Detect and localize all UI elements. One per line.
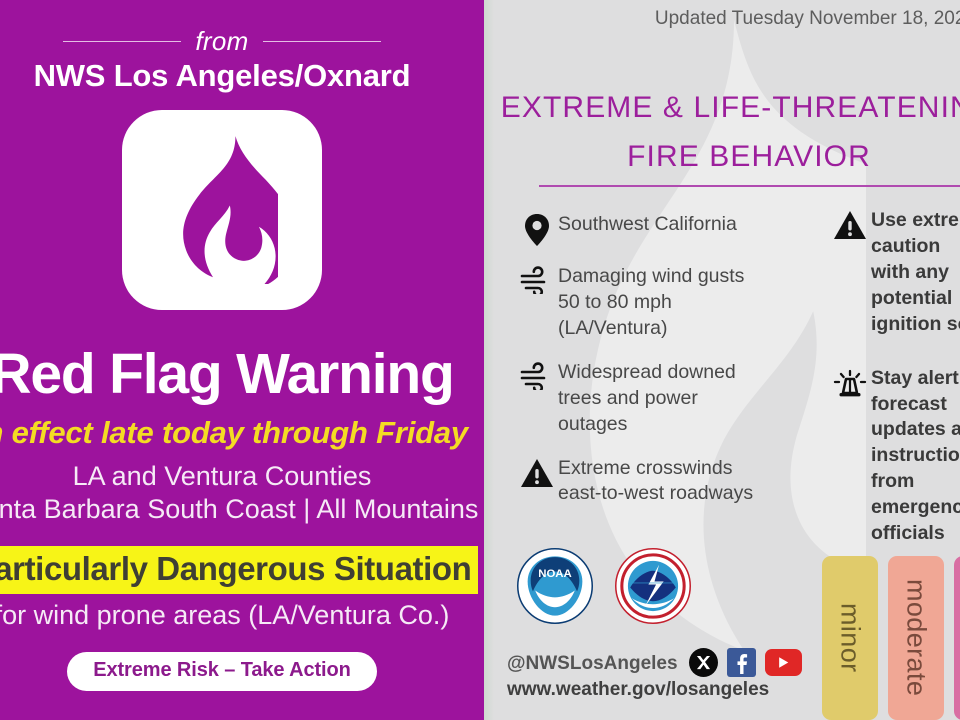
office-name: NWS Los Angeles/Oxnard [0,58,484,94]
hazard-bullet-list-right: Use extreme caution with any potential i… [829,208,960,575]
flame-badge [122,110,322,310]
from-label: from [195,28,248,54]
extreme-risk-take-action-pill[interactable]: Extreme Risk – Take Action [67,652,377,691]
list-item: Damaging wind gusts 50 to 80 mph (LA/Ven… [516,264,806,342]
list-item-label: Stay alert for forecast updates and inst… [871,366,960,547]
warning-graphic: from NWS Los Angeles/Oxnard Red Flag War… [0,0,960,720]
right-info-panel: Updated Tuesday November 18, 2025 EXTREM… [484,0,960,720]
pds-banner-wrap: Particularly Dangerous Situation [0,546,484,594]
facebook-icon[interactable] [727,648,756,677]
list-item: Widespread downed trees and power outage… [516,360,806,438]
severity-box-major: major [954,556,960,720]
action-pill-wrap: Extreme Risk – Take Action [0,652,484,691]
youtube-icon[interactable] [765,649,802,676]
wind-icon [516,360,558,390]
left-purple-panel: from NWS Los Angeles/Oxnard Red Flag War… [0,0,484,720]
website-url[interactable]: www.weather.gov/losangeles [507,679,769,701]
warning-triangle-icon [516,456,558,488]
subheadline: in effect late today through Friday [0,415,484,451]
list-item: Southwest California [516,212,806,246]
list-item-label: Extreme crosswinds east-to-west roadways [558,456,753,508]
from-divider-row: from [0,24,484,58]
x-icon[interactable] [689,648,718,677]
wind-prone-areas-text: for wind prone areas (LA/Ventura Co.) [0,600,484,631]
nws-logo [615,548,691,624]
page-title: EXTREME & LIFE-THREATENING FIRE BEHAVIOR [484,84,960,181]
pds-banner: Particularly Dangerous Situation [0,546,478,594]
location-line-1: LA and Ventura Counties [0,461,484,492]
social-handle[interactable]: @NWSLosAngeles [507,653,678,675]
list-item-label: Use extreme caution with any potential i… [871,208,960,338]
warning-triangle-icon [829,208,871,240]
flame-icon [166,136,278,284]
severity-label: moderate [901,579,932,696]
severity-label: minor [835,603,866,673]
page-title-line-1: EXTREME & LIFE-THREATENING [501,91,960,124]
list-item: Extreme crosswinds east-to-west roadways [516,456,806,508]
severity-box-moderate: moderate [888,556,944,720]
severity-scale: minor moderate major [822,556,960,720]
noaa-logo: NOAA [517,548,593,624]
divider-line-right [263,41,381,42]
severity-box-minor: minor [822,556,878,720]
list-item-label: Damaging wind gusts 50 to 80 mph (LA/Ven… [558,264,744,342]
list-item: Stay alert for forecast updates and inst… [829,366,960,547]
hazard-bullet-list-left: Southwest California Damaging wind gusts… [516,212,806,525]
noaa-logo-text: NOAA [538,568,572,580]
list-item-label: Southwest California [558,212,737,238]
list-item: Use extreme caution with any potential i… [829,208,960,338]
page-title-line-2: FIRE BEHAVIOR [484,133,960,182]
location-pin-icon [516,212,558,246]
siren-icon [829,366,871,400]
updated-timestamp: Updated Tuesday November 18, 2025 [484,8,960,30]
location-line-2: Santa Barbara South Coast | All Mountain… [0,494,484,525]
list-item-label: Widespread downed trees and power outage… [558,360,736,438]
headline: Red Flag Warning [0,346,484,403]
agency-logos: NOAA [517,548,691,624]
social-icons [689,648,802,677]
divider-line-left [63,41,181,42]
wind-icon [516,264,558,294]
title-underline-rule [539,185,960,187]
